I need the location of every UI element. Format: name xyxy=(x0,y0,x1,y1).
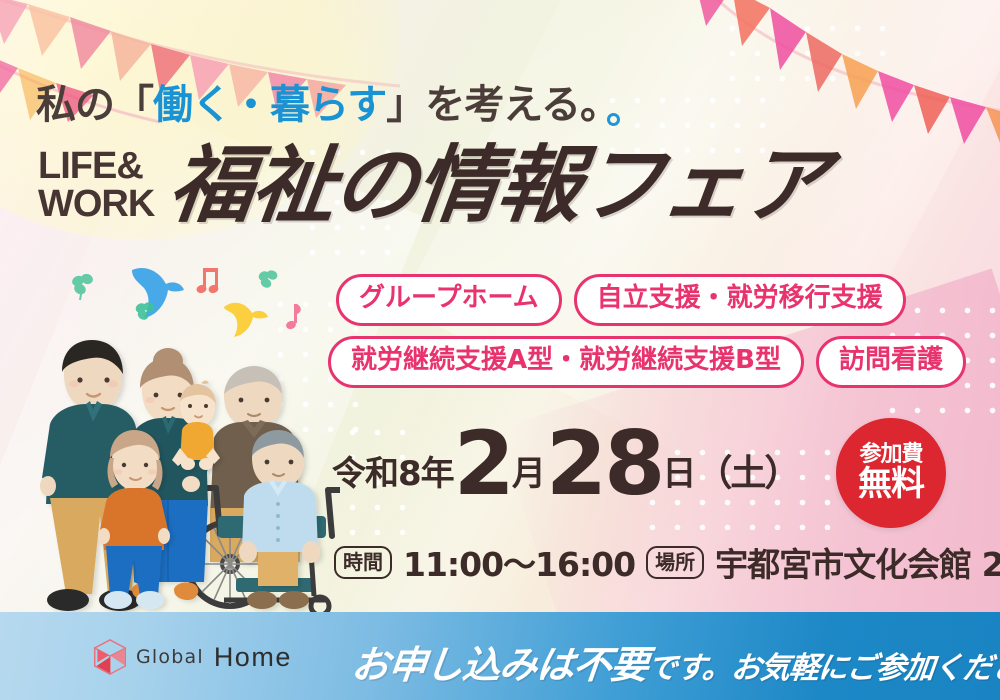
service-pill-row: グループホーム 自立支援・就労移行支援 xyxy=(336,274,992,326)
global-home-cube-icon xyxy=(92,638,128,676)
place-value: 宇都宮市文化会館 2F展示室 xyxy=(715,538,1000,586)
service-pill[interactable]: グループホーム xyxy=(336,274,562,326)
date-day: 28 xyxy=(546,424,662,505)
service-pill[interactable]: 訪問看護 xyxy=(816,336,966,388)
catch-copy: 私の「働く・暮らす」を考える。 xyxy=(36,72,619,130)
bunting-flags-right-icon xyxy=(610,0,1000,150)
title-prefix: LIFE& WORK xyxy=(38,147,154,223)
date-era: 令和8年 xyxy=(332,446,454,505)
footer-bar: Global Home お申し込みは不要です。お気軽にご参加ください。 xyxy=(0,612,1000,700)
event-poster: 私の「働く・暮らす」を考える。 LIFE& WORK 福祉の情報フェア xyxy=(0,0,1000,700)
music-note-icon xyxy=(196,266,222,296)
clover-icon xyxy=(132,300,158,326)
music-note-icon xyxy=(283,303,303,331)
clover-icon xyxy=(255,268,281,294)
logo-text-global: Global xyxy=(136,646,204,668)
event-info-row: 時間 11:00〜16:00 場所 宇都宮市文化会館 2F展示室 xyxy=(334,538,1000,586)
family-illustration xyxy=(28,338,340,620)
title-prefix-line2: WORK xyxy=(38,185,154,223)
catch-copy-pre: 私の「 xyxy=(36,82,153,128)
footer-message-lead: お申し込みは不要 xyxy=(349,643,650,687)
time-label: 時間 xyxy=(334,546,392,579)
footer-message-rest: です。お気軽にご参加ください。 xyxy=(645,651,1000,686)
page-title: 福祉の情報フェア xyxy=(165,143,831,227)
catch-copy-highlight: 働く・暮らす xyxy=(153,82,386,128)
time-value: 11:00〜16:00 xyxy=(403,538,635,586)
place-label: 場所 xyxy=(646,546,704,579)
free-admission-badge: 参加費 無料 xyxy=(836,418,946,528)
service-pill-row: 就労継続支援A型・就労継続支援B型 訪問看護 xyxy=(328,336,992,388)
logo-text-home: Home xyxy=(214,642,292,673)
date-month: 2 xyxy=(454,424,512,505)
service-pill-list: グループホーム 自立支援・就労移行支援 就労継続支援A型・就労継続支援B型 訪問… xyxy=(336,274,992,398)
free-badge-main: 無料 xyxy=(858,467,924,503)
date-month-unit: 月 xyxy=(512,446,546,505)
title-prefix-line1: LIFE& xyxy=(38,147,154,185)
service-pill[interactable]: 自立支援・就労移行支援 xyxy=(574,274,906,326)
free-badge-top: 参加費 xyxy=(859,443,922,466)
catch-copy-post: 」を考える。 xyxy=(386,82,619,128)
service-pill[interactable]: 就労継続支援A型・就労継続支援B型 xyxy=(328,336,804,388)
title-block: LIFE& WORK 福祉の情報フェア xyxy=(38,143,826,227)
bird-yellow-icon xyxy=(222,295,270,339)
footer-message: お申し込みは不要です。お気軽にご参加ください。 xyxy=(349,634,1000,689)
date-day-unit: 日 xyxy=(662,446,696,505)
date-dayofweek: （土） xyxy=(696,444,798,505)
clover-icon xyxy=(68,272,98,302)
event-date: 令和8年 2 月 28 日 （土） xyxy=(332,424,798,505)
global-home-logo[interactable]: Global Home xyxy=(92,638,292,676)
